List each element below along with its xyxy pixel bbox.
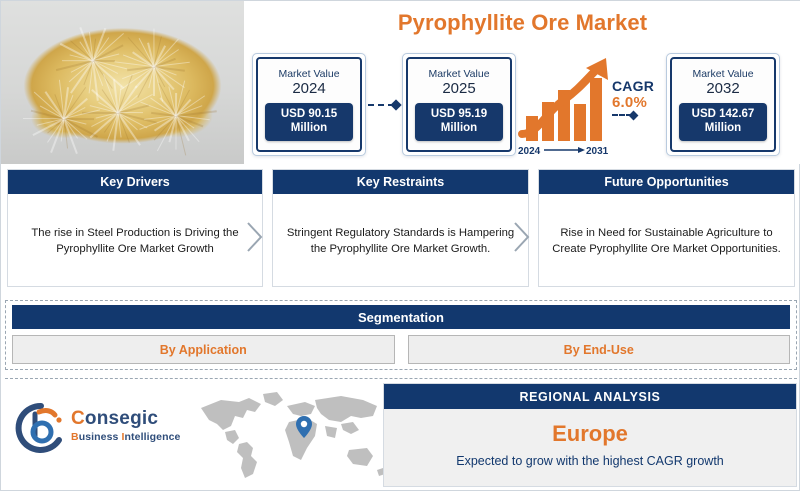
brand-tagline: Business Intelligence [71, 431, 181, 443]
consegic-logo-icon [15, 402, 67, 454]
infographic-page: Pyrophyllite Ore Market Market Value 202… [0, 0, 800, 491]
regional-note: Expected to grow with the highest CAGR g… [384, 454, 796, 468]
segmentation-box-by-application[interactable]: By Application [12, 335, 395, 364]
regional-analysis-title: REGIONAL ANALYSIS [384, 384, 796, 409]
pyrophyllite-ore-image [1, 1, 244, 164]
panel-title: Future Opportunities [539, 170, 794, 194]
market-value-card-2025: Market Value 2025 USD 95.19 Million [402, 53, 516, 156]
cagr-bar-chart-icon: CAGR 2024 2031 [518, 54, 614, 156]
regional-analysis-card: REGIONAL ANALYSIS Europe Expected to gro… [383, 383, 797, 487]
regional-region-name: Europe [384, 421, 796, 447]
cagr-graphic: CAGR 2024 2031 CAGR 6.0% [516, 50, 666, 160]
brand-wordmark: Consegic Business Intelligence [71, 408, 181, 443]
segmentation-section: Segmentation By Application By End-Use [5, 300, 797, 370]
market-value-amount: USD 142.67 Million [679, 103, 767, 141]
cagr-label: CAGR [612, 78, 664, 94]
panel-future-opportunities: Future Opportunities Rise in Need for Su… [538, 169, 795, 287]
brand-name: Consegic [71, 408, 181, 430]
cagr-end-year: 2031 [586, 146, 609, 156]
market-value-label: Market Value [692, 68, 753, 80]
chevron-right-icon [246, 221, 264, 253]
market-value-year: 2032 [706, 80, 739, 98]
market-value-card-2024: Market Value 2024 USD 90.15 Million [252, 53, 366, 156]
cagr-start-year: 2024 [518, 146, 541, 156]
page-title: Pyrophyllite Ore Market [398, 10, 647, 36]
arrow-dot-icon [390, 99, 401, 110]
panel-key-drivers: Key Drivers The rise in Steel Production… [7, 169, 263, 287]
title-bar: Pyrophyllite Ore Market [244, 1, 800, 45]
market-value-label: Market Value [428, 68, 489, 80]
chevron-right-icon [513, 221, 531, 253]
cagr-value-label: CAGR 6.0% [612, 78, 664, 119]
market-value-year: 2024 [292, 80, 325, 98]
panel-title: Key Drivers [8, 170, 262, 194]
insights-row: Key Drivers The rise in Steel Production… [1, 169, 800, 292]
connector-2024-2025 [366, 101, 402, 109]
segmentation-title: Segmentation [12, 305, 790, 329]
header-section: Pyrophyllite Ore Market Market Value 202… [1, 1, 800, 164]
brand-logo: Consegic Business Intelligence [15, 400, 185, 458]
cagr-value: 6.0% [612, 94, 664, 111]
world-map-graphic [191, 386, 391, 486]
panel-text: The rise in Steel Production is Driving … [8, 194, 262, 288]
market-value-label: Market Value [278, 68, 339, 80]
panel-key-restraints: Key Restraints Stringent Regulatory Stan… [272, 169, 529, 287]
market-value-amount: USD 90.15 Million [265, 103, 353, 141]
panel-title: Key Restraints [273, 170, 528, 194]
panel-text: Rise in Need for Sustainable Agriculture… [539, 194, 794, 288]
regional-analysis-body: Europe Expected to grow with the highest… [384, 409, 796, 468]
market-value-amount: USD 95.19 Million [415, 103, 503, 141]
segmentation-box-by-end-use[interactable]: By End-Use [408, 335, 791, 364]
panel-text: Stringent Regulatory Standards is Hamper… [273, 194, 528, 288]
market-value-card-2032: Market Value 2032 USD 142.67 Million [666, 53, 780, 156]
cagr-connector [612, 112, 664, 119]
footer-section: Consegic Business Intelligence [1, 378, 800, 491]
market-value-row: Market Value 2024 USD 90.15 Million Mark… [244, 45, 800, 164]
segmentation-boxes: By Application By End-Use [12, 335, 790, 364]
arrow-dot-icon [629, 110, 639, 120]
market-value-year: 2025 [442, 80, 475, 98]
